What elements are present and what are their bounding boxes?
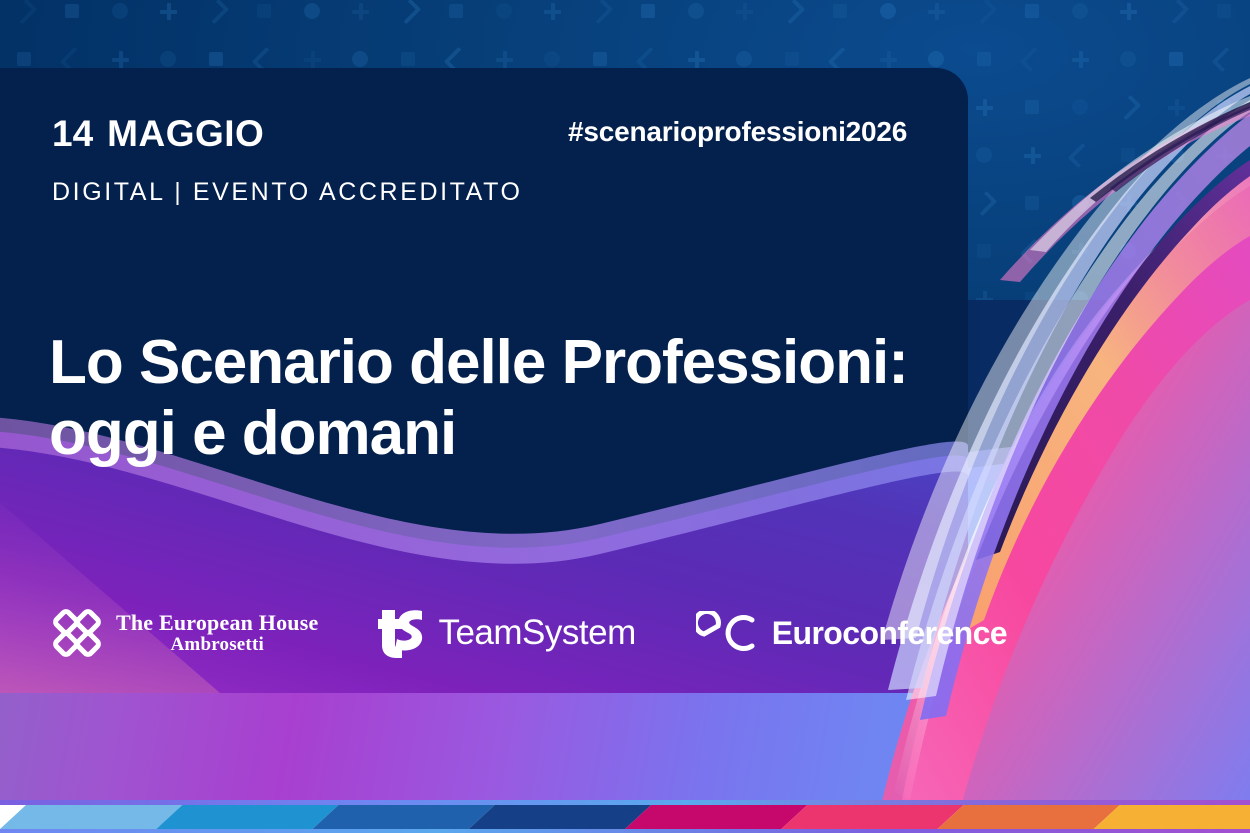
event-date: 14 MAGGIO [52,115,264,152]
ambrosetti-line1: The European House [116,611,318,634]
sponsor-logos: The European House Ambrosetti TeamSystem… [52,608,1007,658]
event-format-line: DIGITAL | EVENTO ACCREDITATO [52,178,523,207]
page-title-line2: oggi e domani [49,398,949,470]
strip-block-navy [469,805,651,829]
logo-text-teamsystem: TeamSystem [438,613,635,653]
page-title-line1: Lo Scenario delle Professioni: [49,328,908,397]
footer-bottom-gradient-line [0,829,1250,833]
logo-text-ambrosetti: The European House Ambrosetti [116,611,318,654]
text-layer: 14 MAGGIO DIGITAL | EVENTO ACCREDITATO #… [0,0,1250,833]
ec-monogram-icon [696,611,758,655]
strip-block-cyan-blue [156,805,338,829]
strip-block-pink [781,805,963,829]
logo-euroconference[interactable]: Euroconference [696,611,1007,655]
logo-teamsystem[interactable]: TeamSystem [378,608,635,658]
event-banner: 14 MAGGIO DIGITAL | EVENTO ACCREDITATO #… [0,0,1250,833]
page-title: Lo Scenario delle Professioni: oggi e do… [49,327,949,471]
strip-block-steel-blue [313,805,495,829]
strip-block-light-blue [0,805,182,829]
footer-color-blocks [0,805,1250,829]
footer-color-strip [0,800,1250,833]
ts-monogram-icon [378,608,424,658]
logo-the-european-house-ambrosetti[interactable]: The European House Ambrosetti [52,608,318,658]
event-date-day: 14 [52,115,93,152]
strip-block-amber [1094,805,1250,829]
event-hashtag: #scenarioprofessioni2026 [568,116,907,148]
interlocking-diamonds-icon [52,608,102,658]
strip-block-orange [938,805,1120,829]
strip-block-magenta [625,805,807,829]
ambrosetti-line2: Ambrosetti [171,635,264,655]
logo-text-euroconference: Euroconference [772,615,1007,652]
event-date-month: MAGGIO [107,115,264,152]
